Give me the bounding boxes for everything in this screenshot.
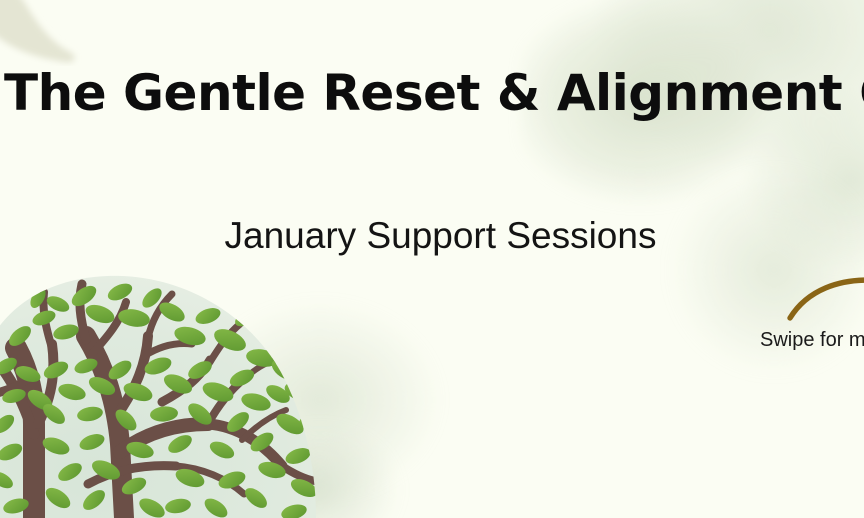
tree-illustration (0, 274, 330, 518)
swipe-for-more-label[interactable]: Swipe for m (760, 329, 864, 352)
page-subtitle: January Support Sessions (0, 214, 864, 258)
watercolor-wash-bottom-left (250, 400, 510, 518)
corner-leaf-blob-icon (0, 0, 96, 66)
watercolor-wash-middle (180, 250, 600, 518)
presentation-slide: The Gentle Reset & Alignment Guide Janua… (0, 0, 864, 518)
watercolor-wash-right-edge (624, 120, 864, 420)
page-title: The Gentle Reset & Alignment Guide (4, 64, 864, 123)
swipe-arrow-arc-icon (780, 272, 864, 328)
